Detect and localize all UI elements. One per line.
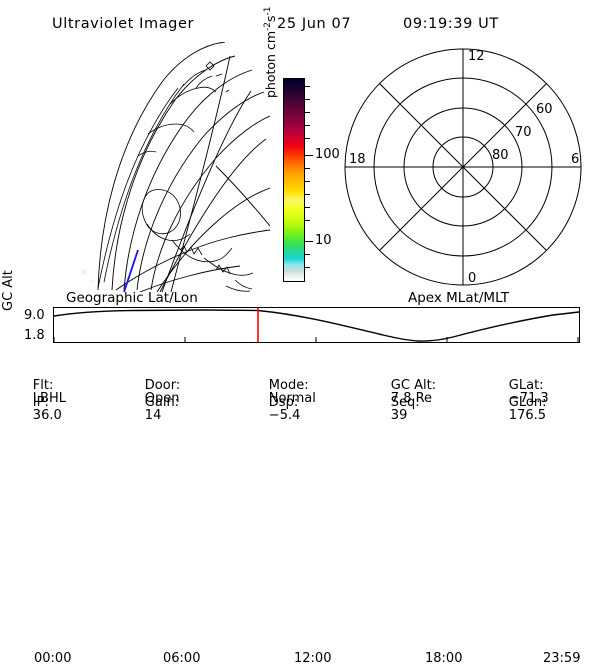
apex-polar-panel: 12 6 0 18 60 70 80 [332,42,594,292]
colorbar-units-main: photon cm [263,31,278,98]
orbit-y-tick-high: 9.0 [24,309,45,322]
colorbar-tick-major [305,155,313,156]
colorbar-tick [305,125,310,126]
orbit-altitude-plot: GC Alt 9.0 1.8 00:00 06:00 12:00 18:00 2… [0,305,600,345]
status-ip-value: 36.0 [33,408,62,423]
colorbar-tick [305,254,310,255]
colorbar-axis-title: photon cm-2s-1 [264,7,278,98]
colorbar-tick [305,267,310,268]
status-gain-value: 14 [145,408,162,423]
status-glon-value: 176.5 [509,408,546,423]
colorbar-tick [305,99,310,100]
colorbar-units-exp2: -1 [263,7,273,16]
status-dsp-value: −5.4 [269,408,301,423]
orbit-xtick-1800: 18:00 [425,652,462,665]
orbit-xtick-2359: 23:59 [543,652,580,665]
polar-grid: 12 6 0 18 60 70 80 [332,42,594,292]
colorbar-units-mid: s [263,16,278,23]
right-panel-caption: Apex MLat/MLT [408,292,509,306]
altitude-curve [54,310,579,341]
geographic-projection [20,42,270,292]
orbit-trace-svg[interactable] [53,307,580,343]
colorbar-tick [305,138,310,139]
polar-mlt-6: 6 [571,152,579,167]
orbit-y-tick-low: 1.8 [24,329,45,342]
status-glon: GLon: 176.5 [484,383,546,435]
colorbar-gradient [284,79,304,281]
observation-time: 09:19:39 UT [403,17,499,32]
status-gain: Gain: 14 [120,383,179,435]
status-dsp: Dsp: −5.4 [244,383,300,435]
orbit-xtick-0600: 06:00 [163,652,200,665]
colorbar-units-exp1: -2 [263,22,273,31]
polar-mlt-18: 18 [349,152,366,167]
status-footer: Flt: LBHL Door: Open Mode: Normal GC Alt… [0,366,600,400]
observation-date: 25 Jun 07 [277,17,351,32]
polar-mlat-80: 80 [492,148,509,163]
colorbar-group: photon cm-2s-1 100 10 [264,70,334,290]
polar-mlat-60: 60 [536,102,553,117]
colorbar-tick [305,86,310,87]
colorbar-tick [305,220,310,221]
status-ip: IP: 36.0 [8,383,62,435]
colorbar-tick [305,194,310,195]
orbit-xtick-1200: 12:00 [294,652,331,665]
status-seq: Seq: 39 [366,383,420,435]
polar-mlt-12: 12 [468,49,485,64]
polar-mlat-70: 70 [515,125,532,140]
orbit-y-axis-label: GC Alt [2,270,15,311]
colorbar-tick [305,207,310,208]
colorbar-tick [305,168,310,169]
status-seq-value: 39 [391,408,408,423]
polar-mlt-0: 0 [468,271,476,286]
left-panel-caption: Geographic Lat/Lon [66,292,198,306]
uvi-display: Ultraviolet Imager 25 Jun 07 09:19:39 UT [0,0,600,400]
colorbar-label-10: 10 [315,234,332,247]
colorbar-tick [305,112,310,113]
colorbar-tick-major [305,241,313,242]
colorbar-scale [283,78,305,282]
colorbar-tick [305,181,310,182]
instrument-title: Ultraviolet Imager [52,17,194,32]
orbit-xtick-0000: 00:00 [34,652,71,665]
header-bar: Ultraviolet Imager 25 Jun 07 09:19:39 UT [0,8,600,30]
geographic-image-panel [20,42,270,292]
